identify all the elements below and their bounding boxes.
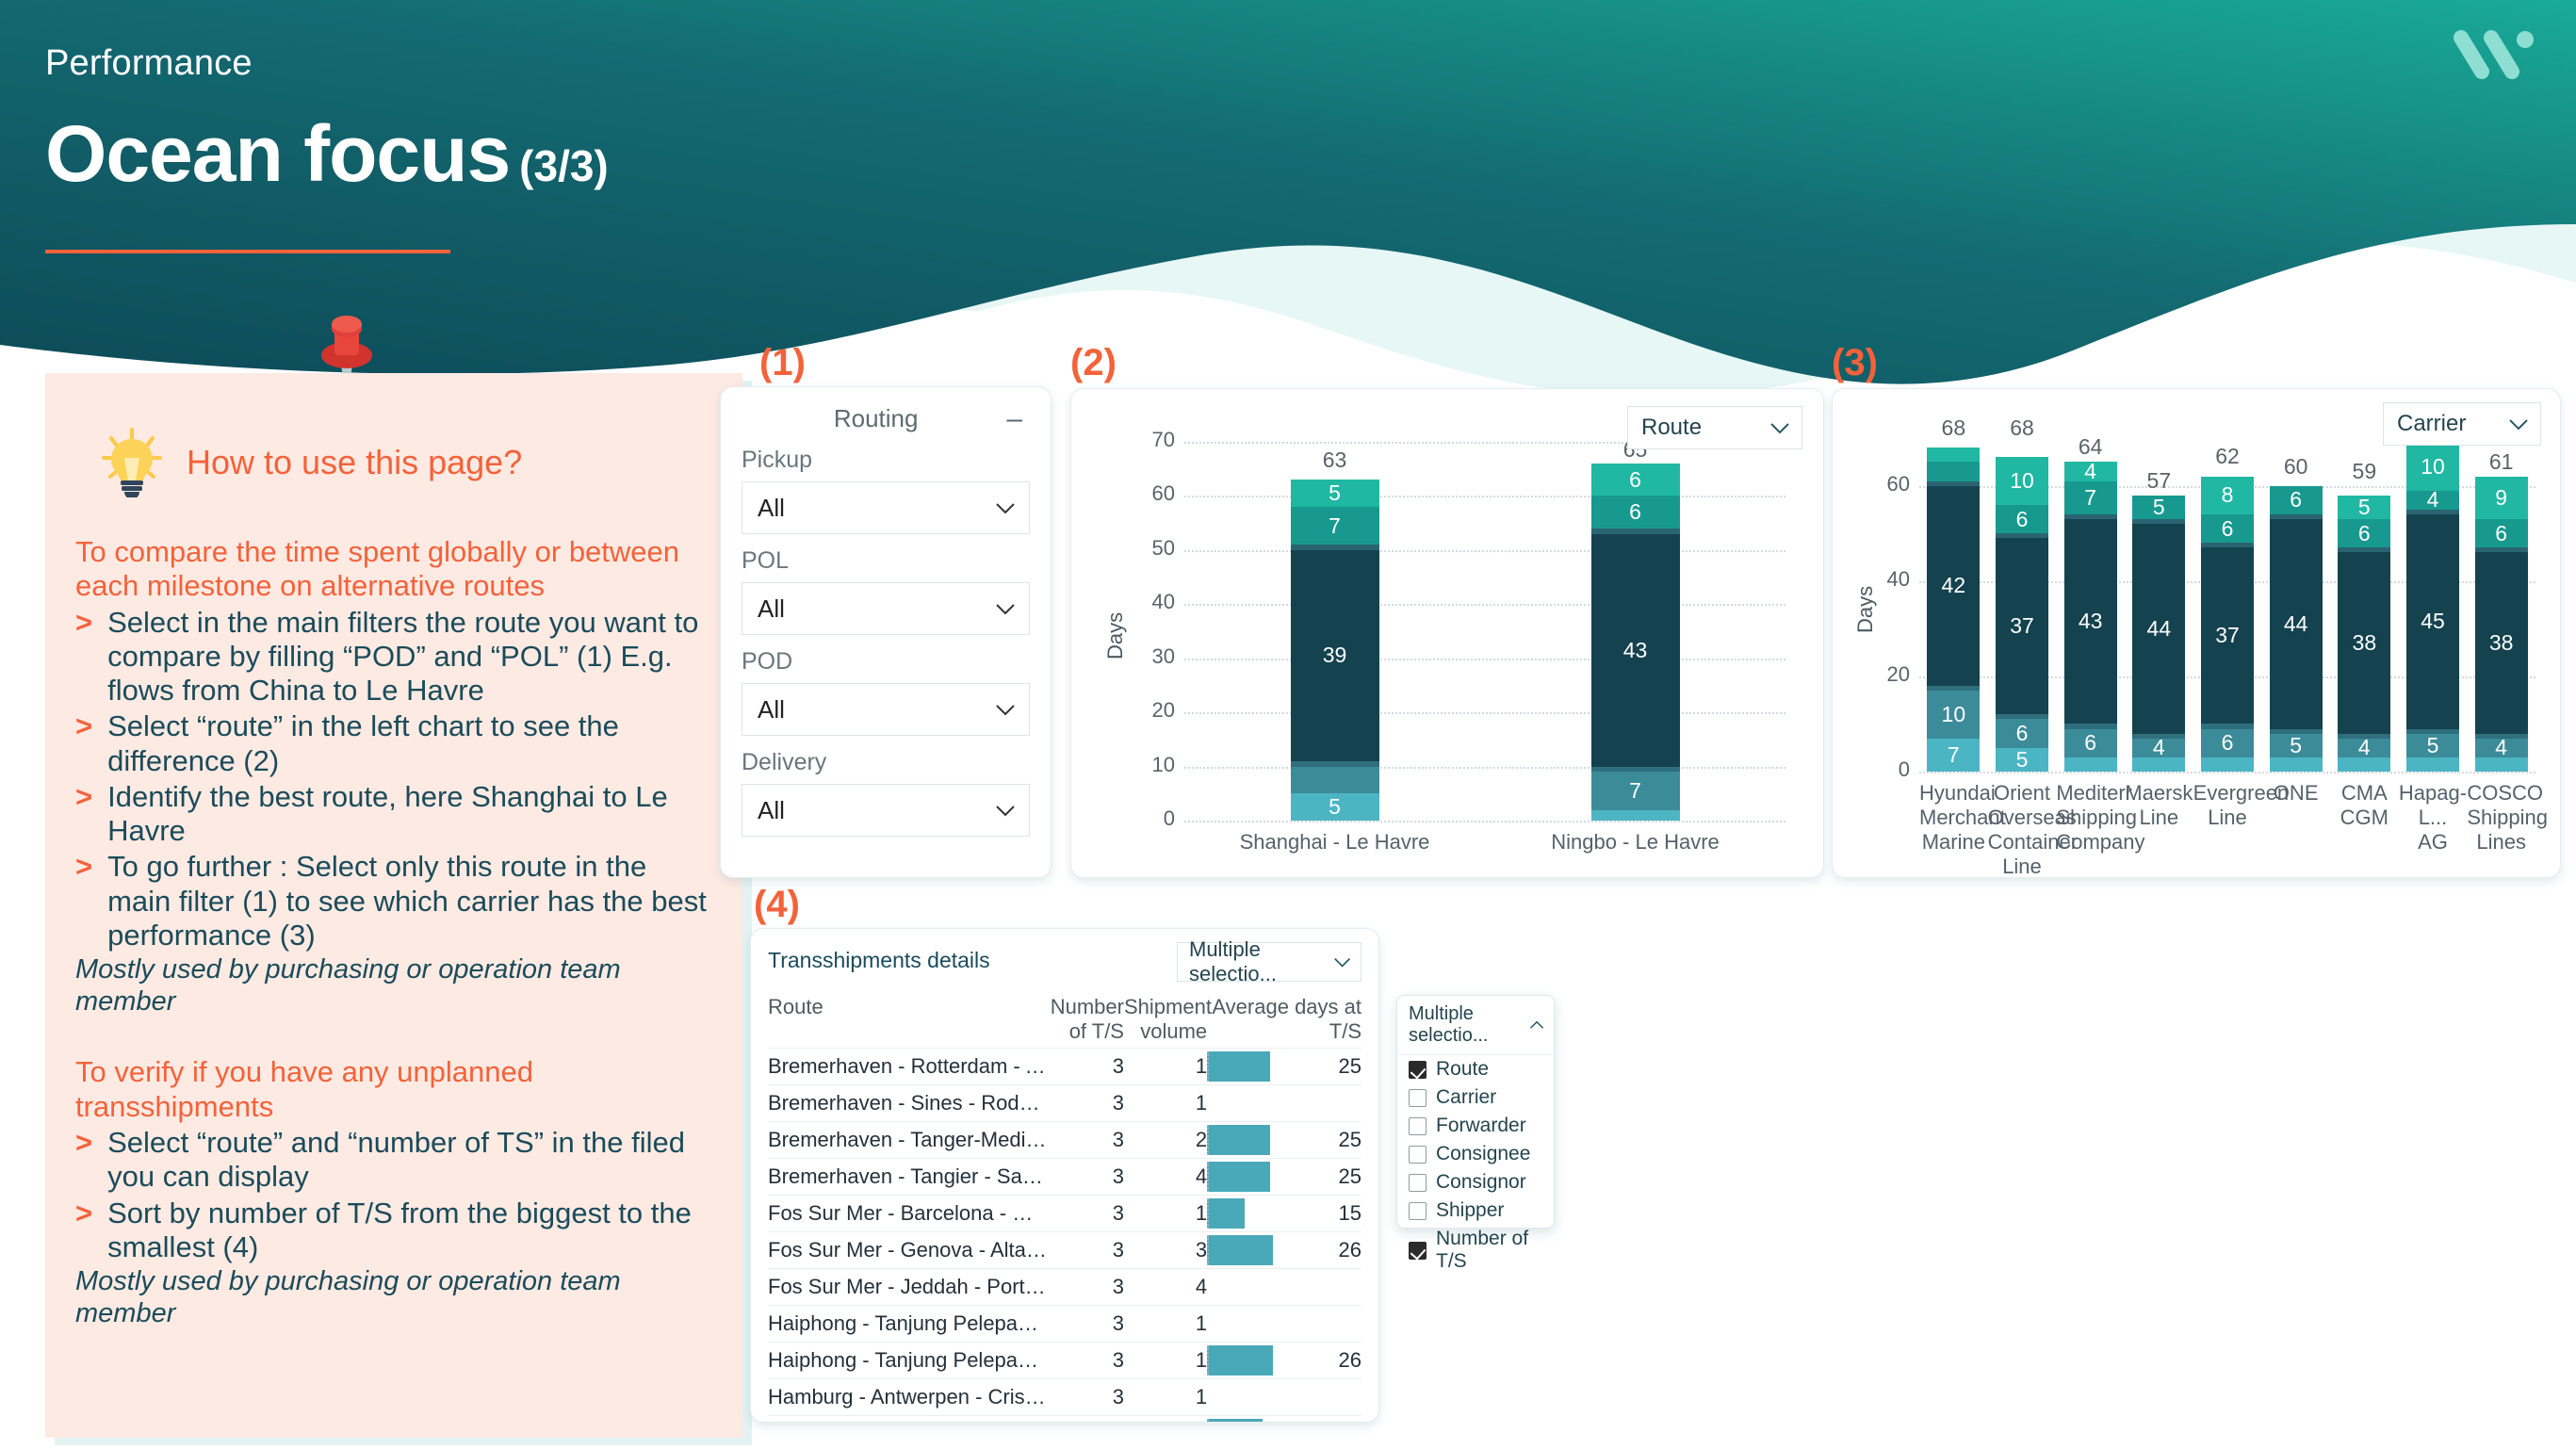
cell-shipment-volume: 4: [1124, 1159, 1207, 1196]
cell-number-of-ts: 3: [1047, 1379, 1124, 1416]
avg-days-value: 26: [1207, 1348, 1361, 1373]
y-axis-label: Days: [1853, 586, 1878, 633]
bar-segment[interactable]: 5: [1291, 793, 1379, 821]
cell-average-days-at-ts: [1207, 1306, 1361, 1343]
bar-stack: 64374: [2064, 462, 2117, 772]
table-row[interactable]: Haiphong - Tanjung Pelepas - Singapore -…: [768, 1343, 1361, 1379]
bar-total-label: 60: [2270, 454, 2323, 480]
chevron-right-icon: >: [75, 1126, 92, 1160]
chevron-right-icon: >: [75, 606, 92, 640]
x-axis-label: CMACGM: [2330, 781, 2399, 830]
transshipments-table-scroll[interactable]: Route Number of T/S Shipment volume Aver…: [751, 982, 1378, 1423]
table-header-row: Route Number of T/S Shipment volume Aver…: [768, 982, 1361, 1049]
routing-title: Routing: [745, 404, 1006, 433]
bar-total-label: 57: [2132, 468, 2185, 494]
multiselect-popup-title: Multiple selectio...: [1409, 1003, 1529, 1047]
howto-note-2: Mostly used by purchasing or operation t…: [75, 1266, 714, 1329]
x-axis-label: EvergreenLine: [2193, 781, 2262, 830]
bar-segment[interactable]: 10: [1927, 691, 1980, 739]
avg-days-bar: [1207, 1419, 1263, 1423]
bar-stack: 43869: [2475, 477, 2528, 772]
bar-column[interactable]: 64374: [2064, 438, 2117, 772]
bar-segment[interactable]: 8: [2201, 477, 2254, 514]
bar-segment[interactable]: [2201, 757, 2254, 772]
routing-card-header: Routing –: [742, 404, 1030, 433]
chevron-down-icon: [995, 704, 1016, 716]
howto-lead-1: To compare the time spent globally or be…: [75, 535, 714, 604]
multiselect-item-label: Number of T/S: [1436, 1228, 1542, 1273]
bar-segment[interactable]: 10: [2406, 443, 2459, 491]
bar-segment[interactable]: 38: [2338, 552, 2390, 733]
bar-stack: 63768: [2201, 477, 2254, 772]
checkbox-icon[interactable]: [1409, 1117, 1427, 1135]
chevron-up-icon: [1529, 1019, 1544, 1031]
column-header-shipment-volume[interactable]: Shipment volume: [1124, 982, 1207, 1049]
howto-bullet: >Select in the main filters the route yo…: [75, 606, 714, 708]
howto-bullet: >Select “route” in the left chart to see…: [75, 709, 714, 778]
howto-panel: How to use this page? To compare the tim…: [45, 373, 742, 1438]
x-axis-label: OrientOverseasContainerLine: [1988, 781, 2057, 879]
bar-stack: 545410: [2406, 443, 2459, 772]
avg-days-value: 22: [1207, 1422, 1361, 1423]
filter-group-delivery: Delivery All: [742, 749, 1030, 837]
cell-route: Fos Sur Mer - Genova - Altamira - Kingst…: [768, 1232, 1047, 1269]
transshipments-dropdown-label: Multiple selectio...: [1189, 937, 1333, 986]
cell-average-days-at-ts: 25: [1207, 1122, 1361, 1159]
bar-column[interactable]: 74366: [1591, 442, 1680, 821]
multiselect-item-label: Route: [1436, 1058, 1489, 1081]
bar-segment[interactable]: [2406, 757, 2459, 772]
filter-value-pol: All: [758, 594, 785, 624]
gridline: [1184, 821, 1785, 822]
bar-segment[interactable]: 7: [1591, 772, 1680, 809]
y-axis-tick: 20: [1133, 698, 1175, 723]
cell-route: Hamburg - Antwerpen - Cristobal - Rodman…: [768, 1379, 1047, 1416]
chevron-down-icon: [995, 603, 1016, 615]
bar-column[interactable]: 545410: [2406, 438, 2459, 772]
bar-stack: 71042: [1927, 448, 1980, 772]
chevron-right-icon: >: [75, 709, 92, 743]
bar-segment[interactable]: 4: [2338, 739, 2390, 757]
lightbulb-icon: [102, 428, 162, 497]
avg-days-value: 25: [1207, 1054, 1361, 1079]
bar-segment[interactable]: 38: [2475, 552, 2528, 733]
bar-total-label: 63: [1291, 448, 1379, 473]
bar-segment[interactable]: 44: [2270, 519, 2323, 729]
bar-segment[interactable]: 42: [1927, 486, 1980, 686]
howto-block-1: To compare the time spent globally or be…: [75, 535, 714, 1018]
avg-days-value: 25: [1207, 1128, 1361, 1152]
carrier-chart-dropdown-label: Carrier: [2397, 411, 2466, 437]
howto-bullet: >Select “route” and “number of TS” in th…: [75, 1126, 714, 1195]
bar-segment[interactable]: 37: [2201, 547, 2254, 724]
page-title: Ocean focus(3/3): [45, 108, 609, 200]
x-axis-label: Ningbo - Le Havre: [1485, 830, 1785, 855]
page-title-suffix: (3/3): [519, 141, 609, 190]
avg-days-value: 26: [1207, 1238, 1361, 1262]
cell-average-days-at-ts: 15: [1207, 1196, 1361, 1232]
bar-segment[interactable]: 4: [2132, 739, 2185, 757]
multiselect-item[interactable]: Route: [1397, 1055, 1554, 1083]
table-row[interactable]: Fos Sur Mer - Barcelona - Cartagena - Ca…: [768, 1196, 1361, 1232]
bar-segment[interactable]: 43: [2064, 519, 2117, 724]
bar-segment[interactable]: [1291, 767, 1379, 794]
routing-filter-card: Routing – Pickup All POL All POD All Del…: [720, 386, 1052, 878]
bar-total-label: 64: [2064, 434, 2117, 460]
howto-bullet-text: To go further : Select only this route i…: [107, 850, 714, 952]
filter-group-pod: POD All: [742, 648, 1030, 736]
multiselect-item-label: Forwarder: [1436, 1115, 1526, 1137]
cell-average-days-at-ts: 25: [1207, 1049, 1361, 1085]
y-axis-tick: 40: [1868, 567, 1910, 592]
bar-segment[interactable]: 7: [1927, 739, 1980, 772]
bar-segment[interactable]: 5: [2132, 496, 2185, 519]
table-row[interactable]: Hamburg - Cartagena - Buenaventura - Man…: [768, 1416, 1361, 1424]
y-axis-label: Days: [1103, 612, 1128, 659]
howto-bullet-text: Identify the best route, here Shanghai t…: [107, 780, 714, 849]
callout-number-2: (2): [1070, 342, 1117, 384]
table-body: Bremerhaven - Rotterdam - Antwerpen - Lo…: [768, 1049, 1361, 1424]
route-chart-dropdown[interactable]: Route: [1627, 406, 1802, 449]
howto-bullet-text: Select “route” and “number of TS” in the…: [107, 1126, 714, 1195]
bar-segment[interactable]: 4: [2475, 739, 2528, 757]
bar-column[interactable]: 63768: [2201, 438, 2254, 772]
bar-total-label: 61: [2475, 449, 2528, 475]
multiselect-popup: Multiple selectio... RouteCarrierForward…: [1396, 995, 1555, 1229]
bar-segment[interactable]: 9: [2475, 477, 2528, 520]
bar-column[interactable]: 5446: [2270, 438, 2323, 772]
title-underline-rule: [45, 250, 450, 253]
table-row[interactable]: Haiphong - Tanjung Pelepas - Singapore -…: [768, 1306, 1361, 1343]
avg-days-value: 25: [1207, 1164, 1361, 1189]
howto-title: How to use this page?: [187, 443, 522, 482]
bar-segment[interactable]: 45: [2406, 514, 2459, 729]
x-axis-label: MaerskLine: [2125, 781, 2193, 830]
filter-select-pol[interactable]: All: [742, 582, 1030, 635]
table-row[interactable]: Fos Sur Mer - Genova - Altamira - Kingst…: [768, 1232, 1361, 1269]
table-row[interactable]: Bremerhaven - Tanger-Mediterranean - Sal…: [768, 1122, 1361, 1159]
transshipments-dropdown[interactable]: Multiple selectio...: [1177, 942, 1361, 982]
carrier-chart-card: Days02040607104268HyundaiMerchantMarine5…: [1832, 388, 2561, 878]
chevron-down-icon: [1769, 422, 1790, 434]
column-header-average-days-at-ts[interactable]: Average days at T/S: [1207, 982, 1361, 1049]
y-axis-tick: 20: [1868, 662, 1910, 687]
bar-segment[interactable]: [2064, 757, 2117, 772]
gridline: [1184, 659, 1785, 660]
gridline: [1184, 496, 1785, 497]
transshipments-header: Transshipments details Multiple selectio…: [751, 929, 1378, 982]
cell-route: Fos Sur Mer - Jeddah - Port Klang - Tian…: [768, 1269, 1047, 1306]
bar-segment[interactable]: 6: [2064, 729, 2117, 757]
cell-number-of-ts: 3: [1047, 1159, 1124, 1196]
cell-average-days-at-ts: 26: [1207, 1232, 1361, 1269]
carrier-chart-plot: Days02040607104268HyundaiMerchantMarine5…: [1833, 389, 2560, 877]
route-chart-plot: Days0102030405060705397563Shanghai - Le …: [1071, 389, 1823, 877]
cell-shipment-volume: 1: [1124, 1085, 1207, 1122]
howto-lead-2: To verify if you have any unplanned tran…: [75, 1055, 714, 1124]
chevron-down-icon: [995, 805, 1016, 817]
bar-segment[interactable]: 7: [2064, 481, 2117, 514]
cell-shipment-volume: 1: [1124, 1049, 1207, 1085]
chevron-right-icon: >: [75, 850, 92, 884]
avg-days-value: 15: [1207, 1201, 1361, 1226]
cell-average-days-at-ts: [1207, 1085, 1361, 1122]
page-title-main: Ocean focus: [45, 109, 510, 198]
x-axis-label: Hapag-L...AG: [2399, 781, 2468, 855]
cell-number-of-ts: 3: [1047, 1343, 1124, 1379]
howto-bullets-1: >Select in the main filters the route yo…: [75, 606, 714, 953]
table-row[interactable]: Bremerhaven - Sines - Rodman - Balboa - …: [768, 1085, 1361, 1122]
cell-number-of-ts: 3: [1047, 1049, 1124, 1085]
callout-number-3: (3): [1832, 342, 1878, 384]
bar-segment[interactable]: 5: [1291, 480, 1379, 507]
cell-route: Haiphong - Tanjung Pelepas - Singapore -…: [768, 1343, 1047, 1379]
y-axis-tick: 30: [1133, 644, 1175, 669]
bar-segment[interactable]: 37: [1996, 538, 2048, 714]
multiselect-item[interactable]: Forwarder: [1397, 1112, 1554, 1140]
table-row[interactable]: Bremerhaven - Rotterdam - Antwerpen - Lo…: [768, 1049, 1361, 1085]
howto-note-1: Mostly used by purchasing or operation t…: [75, 954, 714, 1018]
howto-bullet: >Identify the best route, here Shanghai …: [75, 780, 714, 849]
multiselect-item[interactable]: Number of T/S: [1397, 1225, 1554, 1276]
bar-segment[interactable]: 5: [2338, 496, 2390, 519]
multiselect-popup-header[interactable]: Multiple selectio...: [1397, 996, 1554, 1055]
bar-column[interactable]: 43869: [2475, 438, 2528, 772]
cell-route: Haiphong - Tanjung Pelepas - Singapore -…: [768, 1306, 1047, 1343]
y-axis-tick: 60: [1133, 481, 1175, 506]
filter-label-pickup: Pickup: [742, 447, 1030, 474]
cell-route: Bremerhaven - Rotterdam - Antwerpen - Lo…: [768, 1049, 1047, 1085]
howto-bullet-text: Sort by number of T/S from the biggest t…: [107, 1197, 714, 1265]
filter-select-pod[interactable]: All: [742, 683, 1030, 736]
cell-shipment-volume: 2: [1124, 1122, 1207, 1159]
cell-shipment-volume: 2: [1124, 1416, 1207, 1424]
bar-stack: 4445: [2132, 496, 2185, 772]
howto-bullet-text: Select in the main filters the route you…: [107, 606, 714, 708]
bar-segment[interactable]: 43: [1591, 534, 1680, 767]
cell-route: Bremerhaven - Sines - Rodman - Balboa - …: [768, 1085, 1047, 1122]
multiselect-item-label: Shipper: [1436, 1199, 1504, 1222]
collapse-icon[interactable]: –: [1006, 411, 1026, 428]
cell-number-of-ts: 3: [1047, 1306, 1124, 1343]
filter-label-delivery: Delivery: [742, 749, 1030, 776]
checkbox-icon[interactable]: [1409, 1061, 1427, 1079]
howto-bullet: >Sort by number of T/S from the biggest …: [75, 1197, 714, 1265]
y-axis-tick: 60: [1868, 472, 1910, 497]
filter-value-delivery: All: [758, 796, 785, 825]
cell-number-of-ts: 3: [1047, 1085, 1124, 1122]
route-chart-card: Days0102030405060705397563Shanghai - Le …: [1070, 388, 1824, 878]
bar-segment[interactable]: 44: [2132, 524, 2185, 734]
filter-group-pol: POL All: [742, 547, 1030, 635]
cell-average-days-at-ts: [1207, 1379, 1361, 1416]
bar-segment[interactable]: 4: [2406, 491, 2459, 510]
cell-shipment-volume: 3: [1124, 1232, 1207, 1269]
bar-segment[interactable]: 5: [2406, 734, 2459, 757]
bar-total-label: 68: [1996, 415, 2048, 441]
cell-number-of-ts: 3: [1047, 1196, 1124, 1232]
gridline: [1184, 550, 1785, 552]
bar-segment[interactable]: [2270, 757, 2323, 772]
bar-stack: 5637610: [1996, 457, 2048, 772]
bar-segment[interactable]: 6: [1591, 464, 1680, 496]
y-axis-tick: 70: [1133, 428, 1175, 452]
y-axis-tick: 0: [1868, 757, 1910, 782]
bar-segment[interactable]: 6: [2201, 514, 2254, 543]
column-header-number-of-ts[interactable]: Number of T/S: [1047, 982, 1124, 1049]
bar-segment[interactable]: 6: [2475, 519, 2528, 547]
bar-segment[interactable]: 6: [1996, 719, 2048, 747]
bar-column[interactable]: 5637610: [1996, 438, 2048, 772]
callout-number-4: (4): [754, 884, 800, 926]
chevron-right-icon: >: [75, 780, 92, 814]
cell-average-days-at-ts: 25: [1207, 1159, 1361, 1196]
cell-route: Bremerhaven - Tangier - Salalah - Le Por…: [768, 1159, 1047, 1196]
cell-average-days-at-ts: [1207, 1269, 1361, 1306]
cell-shipment-volume: 1: [1124, 1306, 1207, 1343]
howto-bullet: >To go further : Select only this route …: [75, 850, 714, 952]
y-axis-tick: 50: [1133, 536, 1175, 561]
bar-segment[interactable]: 4: [2064, 462, 2117, 480]
bar-segment[interactable]: 6: [2270, 486, 2323, 514]
gridline: [1184, 604, 1785, 606]
cell-shipment-volume: 4: [1124, 1269, 1207, 1306]
bar-total-label: 68: [1927, 415, 1980, 441]
multiselect-item[interactable]: Shipper: [1397, 1197, 1554, 1225]
callout-number-1: (1): [759, 342, 806, 384]
column-header-route[interactable]: Route: [768, 982, 1047, 1049]
bar-segment[interactable]: [2132, 757, 2185, 772]
cell-number-of-ts: 3: [1047, 1232, 1124, 1269]
bar-segment[interactable]: 5: [1996, 748, 2048, 772]
howto-bullet-text: Select “route” in the left chart to see …: [107, 709, 714, 778]
multiselect-item-label: Consignor: [1436, 1171, 1526, 1194]
y-axis-tick: 40: [1133, 590, 1175, 614]
checkbox-icon[interactable]: [1409, 1146, 1427, 1164]
chevron-down-icon: [1333, 956, 1351, 969]
bar-segment[interactable]: 6: [1996, 505, 2048, 533]
multiselect-item[interactable]: Consignee: [1397, 1140, 1554, 1168]
cell-route: Hamburg - Cartagena - Buenaventura - Man…: [768, 1416, 1047, 1424]
x-axis-label: COSCOShippingLines: [2467, 781, 2535, 855]
x-axis-label: Shanghai - Le Havre: [1184, 830, 1485, 855]
bar-segment[interactable]: 6: [2338, 519, 2390, 547]
bar-column[interactable]: 43865: [2338, 438, 2390, 772]
bar-segment[interactable]: 6: [1591, 496, 1680, 528]
multiselect-item[interactable]: Carrier: [1397, 1083, 1554, 1112]
x-axis-label: Mediterr...ShippingCompany: [2056, 781, 2125, 855]
bar-segment[interactable]: 5: [2270, 734, 2323, 757]
cell-route: Fos Sur Mer - Barcelona - Cartagena - Ca…: [768, 1196, 1047, 1232]
y-axis-tick: 10: [1133, 753, 1175, 777]
checkbox-icon[interactable]: [1409, 1202, 1427, 1220]
cell-average-days-at-ts: 26: [1207, 1343, 1361, 1379]
gridline: [1919, 772, 2535, 773]
filter-value-pod: All: [758, 695, 785, 724]
bar-segment[interactable]: 6: [2201, 729, 2254, 757]
bar-stack: 5446: [2270, 486, 2323, 772]
y-axis-tick: 0: [1133, 806, 1175, 831]
page-eyebrow: Performance: [45, 43, 253, 84]
bar-segment[interactable]: [1927, 462, 1980, 480]
filter-select-delivery[interactable]: All: [742, 784, 1030, 837]
gridline: [1184, 712, 1785, 714]
bar-segment[interactable]: 7: [1291, 507, 1379, 545]
bar-segment[interactable]: [2475, 757, 2528, 772]
chevron-right-icon: >: [75, 1197, 92, 1230]
transshipments-card: Transshipments details Multiple selectio…: [750, 928, 1379, 1423]
cell-shipment-volume: 1: [1124, 1343, 1207, 1379]
bar-segment[interactable]: [1927, 448, 1980, 462]
bar-segment[interactable]: 39: [1291, 550, 1379, 761]
cell-average-days-at-ts: 22: [1207, 1416, 1361, 1424]
table-row[interactable]: Hamburg - Antwerpen - Cristobal - Rodman…: [768, 1379, 1361, 1416]
route-chart-dropdown-label: Route: [1641, 415, 1702, 441]
bar-stack: 43865: [2338, 496, 2390, 772]
filter-select-pickup[interactable]: All: [742, 481, 1030, 534]
bar-stack: 74366: [1591, 464, 1680, 821]
bar-column[interactable]: 71042: [1927, 438, 1980, 772]
wakeo-w-logo: [2440, 17, 2542, 92]
x-axis-label: HyundaiMerchantMarine: [1919, 781, 1988, 855]
bar-segment[interactable]: [1591, 810, 1680, 821]
howto-header: How to use this page?: [102, 428, 714, 497]
transshipments-table: Route Number of T/S Shipment volume Aver…: [768, 982, 1361, 1423]
carrier-chart-dropdown[interactable]: Carrier: [2383, 402, 2541, 446]
cell-number-of-ts: 3: [1047, 1122, 1124, 1159]
multiselect-list: RouteCarrierForwarderConsigneeConsignorS…: [1397, 1055, 1554, 1276]
bar-column[interactable]: 53975: [1291, 442, 1379, 821]
gridline: [1184, 767, 1785, 769]
chevron-down-icon: [2508, 418, 2529, 431]
multiselect-item[interactable]: Consignor: [1397, 1168, 1554, 1197]
cell-number-of-ts: 3: [1047, 1416, 1124, 1424]
bar-segment[interactable]: 10: [1996, 457, 2048, 505]
howto-block-2: To verify if you have any unplanned tran…: [75, 1055, 714, 1329]
checkbox-icon[interactable]: [1409, 1089, 1427, 1107]
filter-value-pickup: All: [758, 494, 785, 523]
bar-segment[interactable]: [2338, 757, 2390, 772]
transshipments-title: Transshipments details: [768, 942, 1177, 973]
filter-label-pod: POD: [742, 648, 1030, 676]
cell-shipment-volume: 1: [1124, 1379, 1207, 1416]
howto-bullets-2: >Select “route” and “number of TS” in th…: [75, 1126, 714, 1264]
multiselect-item-label: Consignee: [1436, 1143, 1530, 1165]
bar-total-label: 62: [2201, 444, 2254, 469]
checkbox-icon[interactable]: [1409, 1174, 1427, 1192]
table-row[interactable]: Bremerhaven - Tangier - Salalah - Le Por…: [768, 1159, 1361, 1196]
bar-total-label: 59: [2338, 459, 2390, 484]
cell-number-of-ts: 3: [1047, 1269, 1124, 1306]
chevron-down-icon: [995, 502, 1016, 514]
filter-label-pol: POL: [742, 547, 1030, 575]
checkbox-icon[interactable]: [1409, 1242, 1427, 1260]
filter-group-pickup: Pickup All: [742, 447, 1030, 534]
table-row[interactable]: Fos Sur Mer - Jeddah - Port Klang - Tian…: [768, 1269, 1361, 1306]
cell-route: Bremerhaven - Tanger-Mediterranean - Sal…: [768, 1122, 1047, 1159]
bar-stack: 53975: [1291, 480, 1379, 821]
multiselect-item-label: Carrier: [1436, 1086, 1496, 1109]
cell-shipment-volume: 1: [1124, 1196, 1207, 1232]
x-axis-label: ONE: [2261, 781, 2330, 806]
